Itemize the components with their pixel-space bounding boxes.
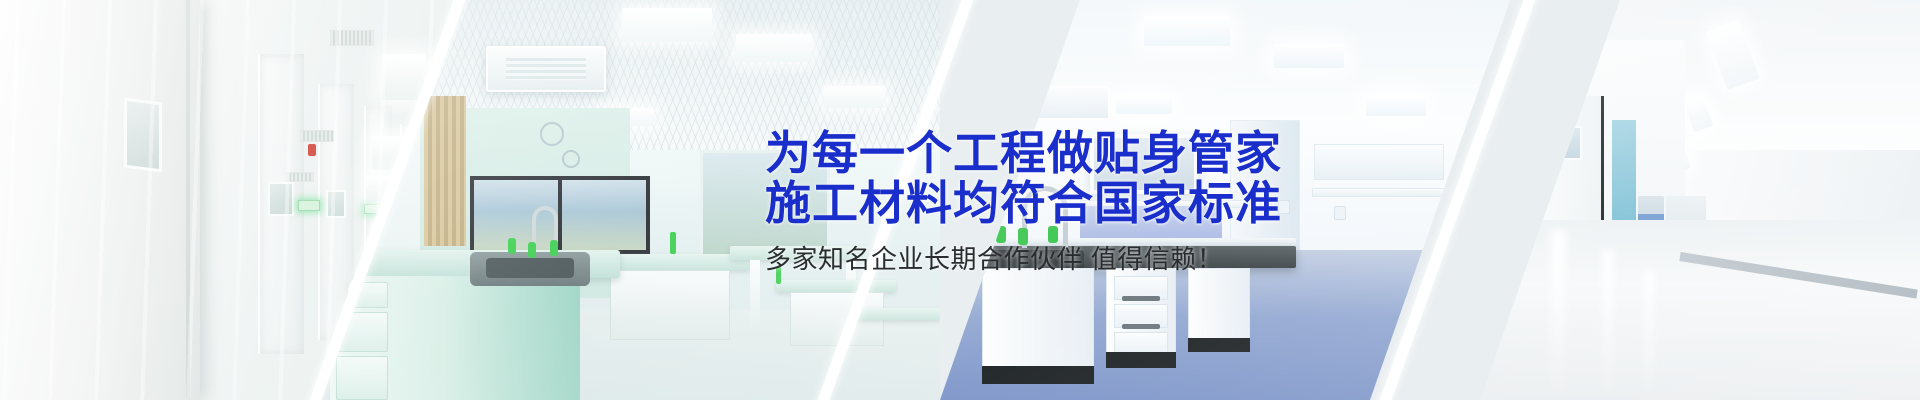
headline-line-2: 施工材料均符合国家标准: [765, 178, 1205, 228]
banner-subtitle: 多家知名企业长期合作伙伴 值得信赖！: [765, 244, 1205, 274]
door-motor-box: [1516, 70, 1550, 100]
hero-banner: 为每一个工程做贴身管家 施工材料均符合国家标准 多家知名企业长期合作伙伴 值得信…: [0, 0, 1920, 400]
corridor-glass-panel: [1488, 100, 1518, 282]
headline-line-1: 为每一个工程做贴身管家: [765, 128, 1205, 178]
banner-copy: 为每一个工程做贴身管家 施工材料均符合国家标准 多家知名企业长期合作伙伴 值得信…: [765, 128, 1205, 274]
door-handle[interactable]: [1538, 160, 1543, 204]
